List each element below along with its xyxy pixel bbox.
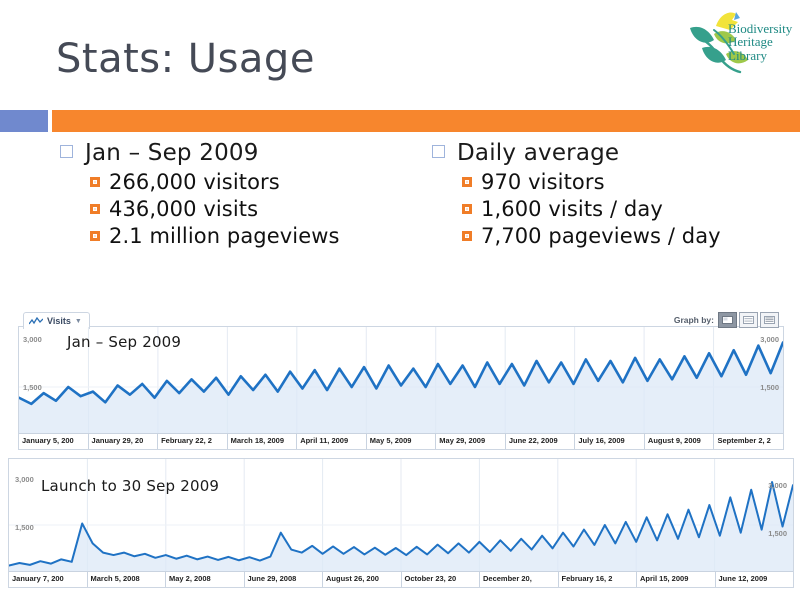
logo-wordmark: Biodiversity Heritage Library	[728, 22, 792, 62]
x-axis-tick: August 26, 200	[322, 572, 401, 587]
metric-tab-label: Visits	[47, 316, 71, 326]
month-view-icon	[764, 316, 775, 324]
x-axis-tick: February 16, 2	[558, 572, 637, 587]
y-axis-tick-top-left-1500: 1,500	[23, 383, 42, 392]
y-axis-tick-bottom-left-3000: 3,000	[15, 475, 34, 484]
square-bullet-icon	[90, 204, 100, 214]
bullet-heading-right: Daily average	[432, 140, 800, 166]
analytics-chart-panel-top: Visits ▼ Graph by:	[18, 326, 784, 450]
logo-line-3: Library	[728, 49, 792, 62]
bullet-item-label: 1,600 visits / day	[481, 197, 663, 221]
graph-by-day-button[interactable]	[718, 312, 737, 328]
bullet-heading-left: Jan – Sep 2009	[60, 140, 440, 166]
banner-accent-blue	[0, 110, 48, 132]
graph-by-week-button[interactable]	[739, 312, 758, 328]
y-axis-tick-top-right-3000: 3,000	[760, 335, 779, 344]
square-bullet-icon	[462, 177, 472, 187]
x-axis-bottom: January 7, 200March 5, 2008May 2, 2008Ju…	[9, 571, 793, 587]
x-axis-tick: January 7, 200	[9, 572, 87, 587]
x-axis-tick: June 12, 2009	[715, 572, 794, 587]
bullet-item-label: 7,700 pageviews / day	[481, 224, 721, 248]
analytics-chart-panel-bottom: Launch to 30 Sep 2009 3,000 1,500 3,000 …	[8, 458, 794, 588]
square-bullet-icon	[90, 231, 100, 241]
x-axis-tick: June 22, 2009	[505, 434, 575, 449]
x-axis-tick: April 11, 2009	[296, 434, 366, 449]
biodiversity-heritage-library-logo: Biodiversity Heritage Library	[680, 6, 792, 78]
bullet-heading-label: Jan – Sep 2009	[85, 140, 259, 166]
banner-accent-orange	[52, 110, 800, 132]
graph-by-buttons	[718, 312, 779, 328]
logo-line-2: Heritage	[728, 35, 792, 48]
bullet-item: 2.1 million pageviews	[90, 224, 440, 248]
bullet-item: 7,700 pageviews / day	[462, 224, 800, 248]
square-outline-bullet-icon	[432, 145, 445, 158]
square-outline-bullet-icon	[60, 145, 73, 158]
square-bullet-icon	[462, 204, 472, 214]
x-axis-tick: March 18, 2009	[227, 434, 297, 449]
x-axis-tick: December 20,	[479, 572, 558, 587]
bullet-item-label: 970 visitors	[481, 170, 605, 194]
logo-line-1: Biodiversity	[728, 22, 792, 35]
day-view-icon	[722, 316, 733, 324]
y-axis-tick-top-right-1500: 1,500	[760, 383, 779, 392]
week-view-icon	[743, 316, 754, 324]
bullet-item-label: 2.1 million pageviews	[109, 224, 340, 248]
chart-title-top: Jan – Sep 2009	[67, 333, 181, 351]
square-bullet-icon	[462, 231, 472, 241]
bullet-item: 266,000 visitors	[90, 170, 440, 194]
bullet-item-label: 266,000 visitors	[109, 170, 280, 194]
chevron-down-icon: ▼	[75, 318, 82, 325]
square-bullet-icon	[90, 177, 100, 187]
x-axis-tick: September 2, 2	[713, 434, 783, 449]
bullet-item: 436,000 visits	[90, 197, 440, 221]
page-title: Stats: Usage	[56, 36, 315, 82]
x-axis-tick: May 5, 2009	[366, 434, 436, 449]
sparkline-icon	[29, 317, 43, 326]
x-axis-tick: May 29, 2009	[435, 434, 505, 449]
banner	[0, 110, 800, 132]
bullet-column-left: Jan – Sep 2009 266,000 visitors 436,000 …	[60, 140, 440, 251]
analytics-toolbar: Visits ▼ Graph by:	[19, 312, 783, 328]
bullet-item: 970 visitors	[462, 170, 800, 194]
x-axis-tick: July 16, 2009	[574, 434, 644, 449]
bullet-columns: Jan – Sep 2009 266,000 visitors 436,000 …	[0, 140, 800, 310]
x-axis-tick: April 15, 2009	[636, 572, 715, 587]
x-axis-tick: June 29, 2008	[244, 572, 323, 587]
graph-by-label: Graph by:	[674, 315, 714, 325]
x-axis-tick: August 9, 2009	[644, 434, 714, 449]
y-axis-tick-bottom-right-1500: 1,500	[768, 529, 787, 538]
x-axis-top: January 5, 200January 29, 20February 22,…	[19, 433, 783, 449]
y-axis-tick-top-left-3000: 3,000	[23, 335, 42, 344]
x-axis-tick: January 5, 200	[19, 434, 88, 449]
y-axis-tick-bottom-right-3000: 3,000	[768, 481, 787, 490]
y-axis-tick-bottom-left-1500: 1,500	[15, 523, 34, 532]
x-axis-tick: May 2, 2008	[165, 572, 244, 587]
graph-by-control: Graph by:	[674, 312, 779, 328]
bullet-item-label: 436,000 visits	[109, 197, 258, 221]
x-axis-tick: January 29, 20	[88, 434, 158, 449]
bullet-item: 1,600 visits / day	[462, 197, 800, 221]
x-axis-tick: February 22, 2	[157, 434, 227, 449]
x-axis-tick: March 5, 2008	[87, 572, 166, 587]
chart-title-bottom: Launch to 30 Sep 2009	[41, 477, 219, 495]
bullet-heading-label: Daily average	[457, 140, 619, 166]
bullet-column-right: Daily average 970 visitors 1,600 visits …	[432, 140, 800, 251]
x-axis-tick: October 23, 20	[401, 572, 480, 587]
graph-by-month-button[interactable]	[760, 312, 779, 328]
